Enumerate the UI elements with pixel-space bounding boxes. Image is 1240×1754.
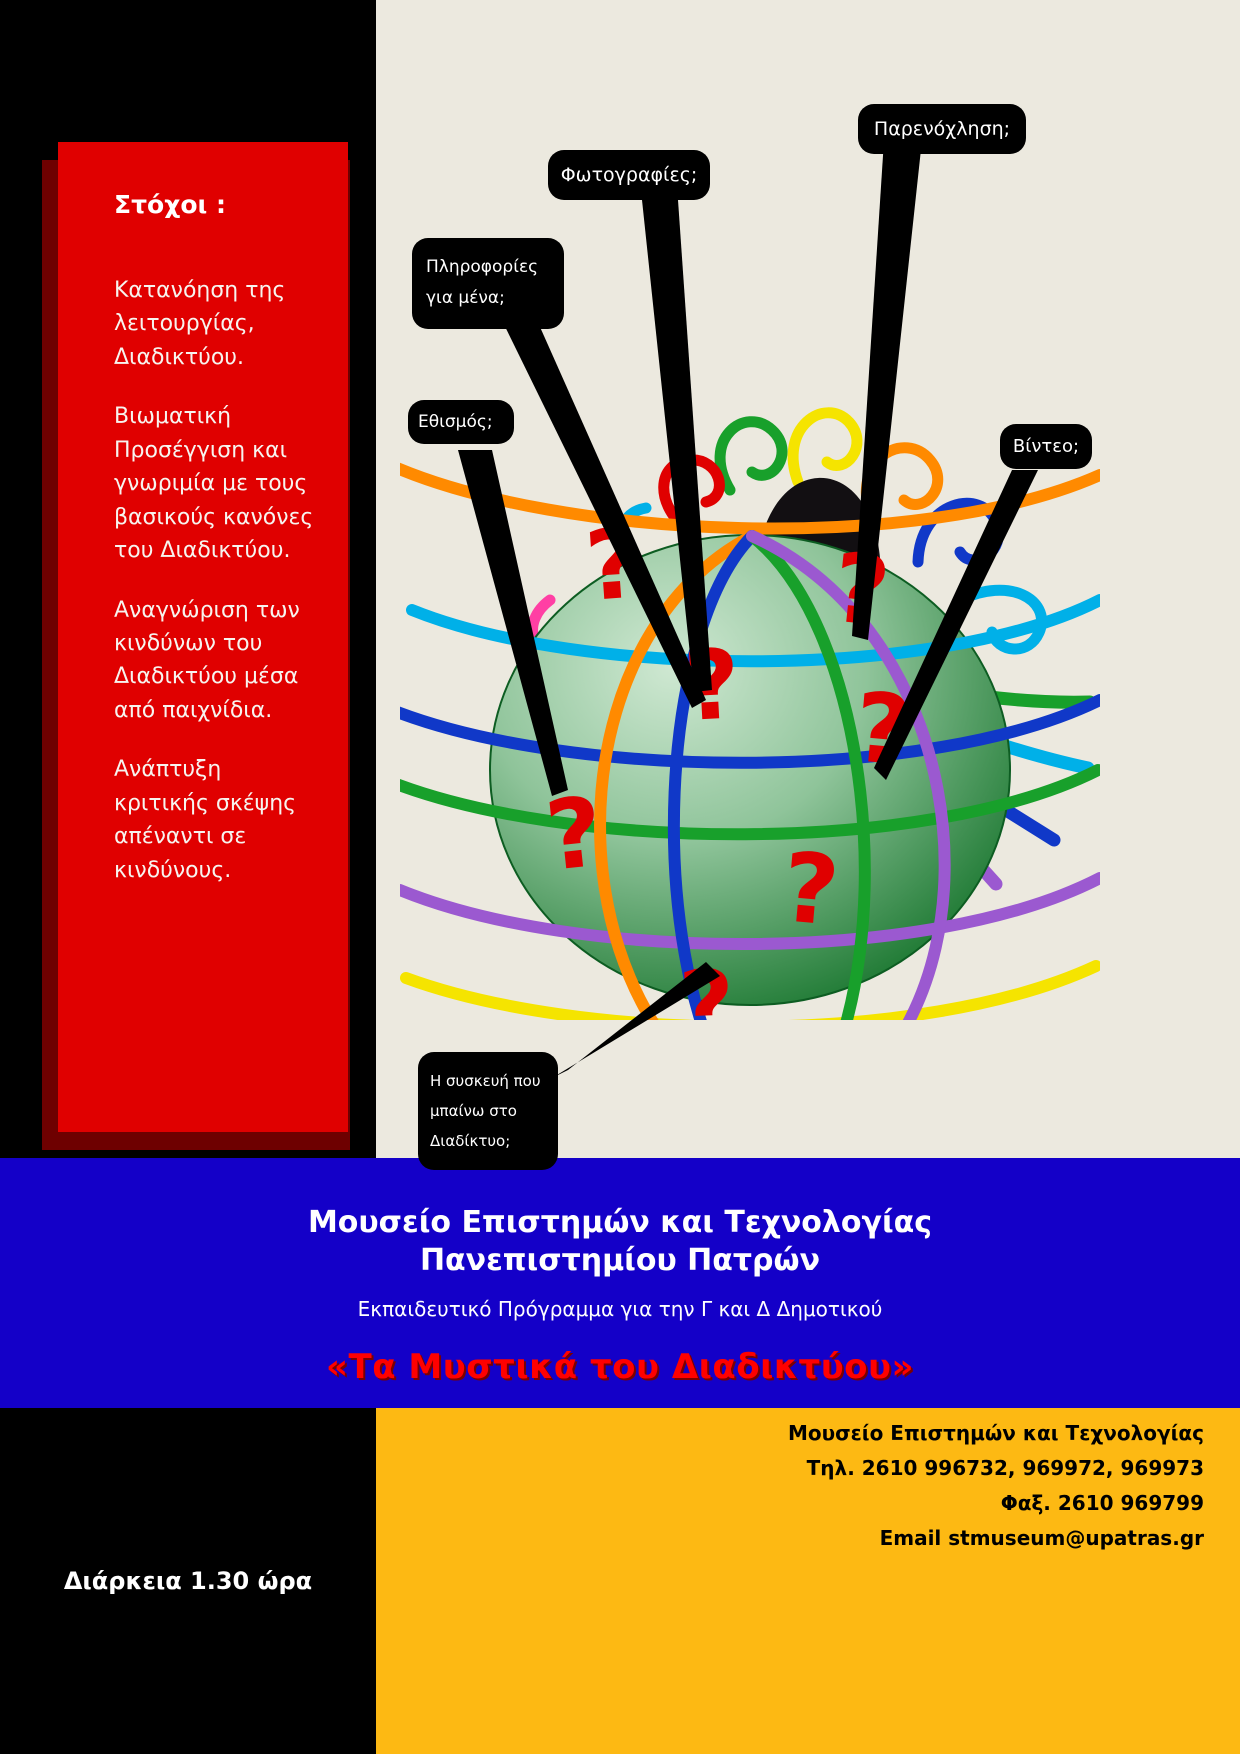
- bubble-device-line: Διαδίκτυο;: [430, 1126, 546, 1156]
- bubble-personal-info-line: για μένα;: [426, 283, 550, 314]
- bubble-device-line: μπαίνω στο: [430, 1096, 546, 1126]
- banner-title: Μουσείο Επιστημών και Τεχνολογίας Πανεπι…: [0, 1158, 1240, 1281]
- objective-item: Αναγνώριση των κινδύνων του Διαδικτύου μ…: [114, 594, 320, 728]
- bubble-personal-info: Πληροφορίες για μένα;: [412, 238, 564, 329]
- bubble-addiction: Εθισμός;: [408, 400, 514, 444]
- bubble-harassment: Παρενόχληση;: [858, 104, 1026, 154]
- contact-line: Μουσείο Επιστημών και Τεχνολογίας: [504, 1416, 1204, 1451]
- banner-title-line2: Πανεπιστημίου Πατρών: [420, 1243, 820, 1278]
- duration-label: Διάρκεια 1.30 ώρα: [0, 1408, 376, 1754]
- bubble-device: Η συσκευή που μπαίνω στο Διαδίκτυο;: [418, 1052, 558, 1170]
- bubble-video-line: Βίντεο;: [1010, 436, 1082, 457]
- banner: Μουσείο Επιστημών και Τεχνολογίας Πανεπι…: [0, 1158, 1240, 1408]
- contact-line: Φαξ. 2610 969799: [504, 1486, 1204, 1521]
- bubble-video: Βίντεο;: [1000, 424, 1092, 469]
- poster-root: ? ? ? ? ? ? ? Στόχοι : Κα: [0, 0, 1240, 1754]
- bubble-addiction-line: Εθισμός;: [418, 412, 504, 432]
- program-title: «Τα Μυστικά του Διαδικτύου»: [0, 1347, 1240, 1387]
- bubble-device-line: Η συσκευή που: [430, 1066, 546, 1096]
- bubble-harassment-line: Παρενόχληση;: [870, 118, 1014, 140]
- contact-line: Τηλ. 2610 996732, 969972, 969973: [504, 1451, 1204, 1486]
- bubble-photos: Φωτογραφίες;: [548, 150, 710, 200]
- contact-block: Μουσείο Επιστημών και Τεχνολογίας Τηλ. 2…: [504, 1416, 1204, 1556]
- banner-subtitle: Εκπαιδευτικό Πρόγραμμα για την Γ και Δ Δ…: [0, 1297, 1240, 1321]
- objective-item: Βιωματική Προσέγγιση και γνωριμία με του…: [114, 400, 320, 567]
- objectives-title: Στόχοι :: [114, 190, 320, 220]
- bubble-tails: [376, 0, 1240, 1158]
- bubble-photos-line: Φωτογραφίες;: [560, 164, 698, 186]
- banner-title-line1: Μουσείο Επιστημών και Τεχνολογίας: [308, 1205, 932, 1240]
- contact-line: Email stmuseum@upatras.gr: [504, 1521, 1204, 1556]
- bubble-personal-info-line: Πληροφορίες: [426, 252, 550, 283]
- objectives-panel: Στόχοι : Κατανόηση της λειτουργίας, Διαδ…: [58, 142, 348, 1132]
- objective-item: Ανάπτυξη κριτικής σκέψης απέναντι σε κιν…: [114, 753, 320, 887]
- objective-item: Κατανόηση της λειτουργίας, Διαδικτύου.: [114, 274, 320, 374]
